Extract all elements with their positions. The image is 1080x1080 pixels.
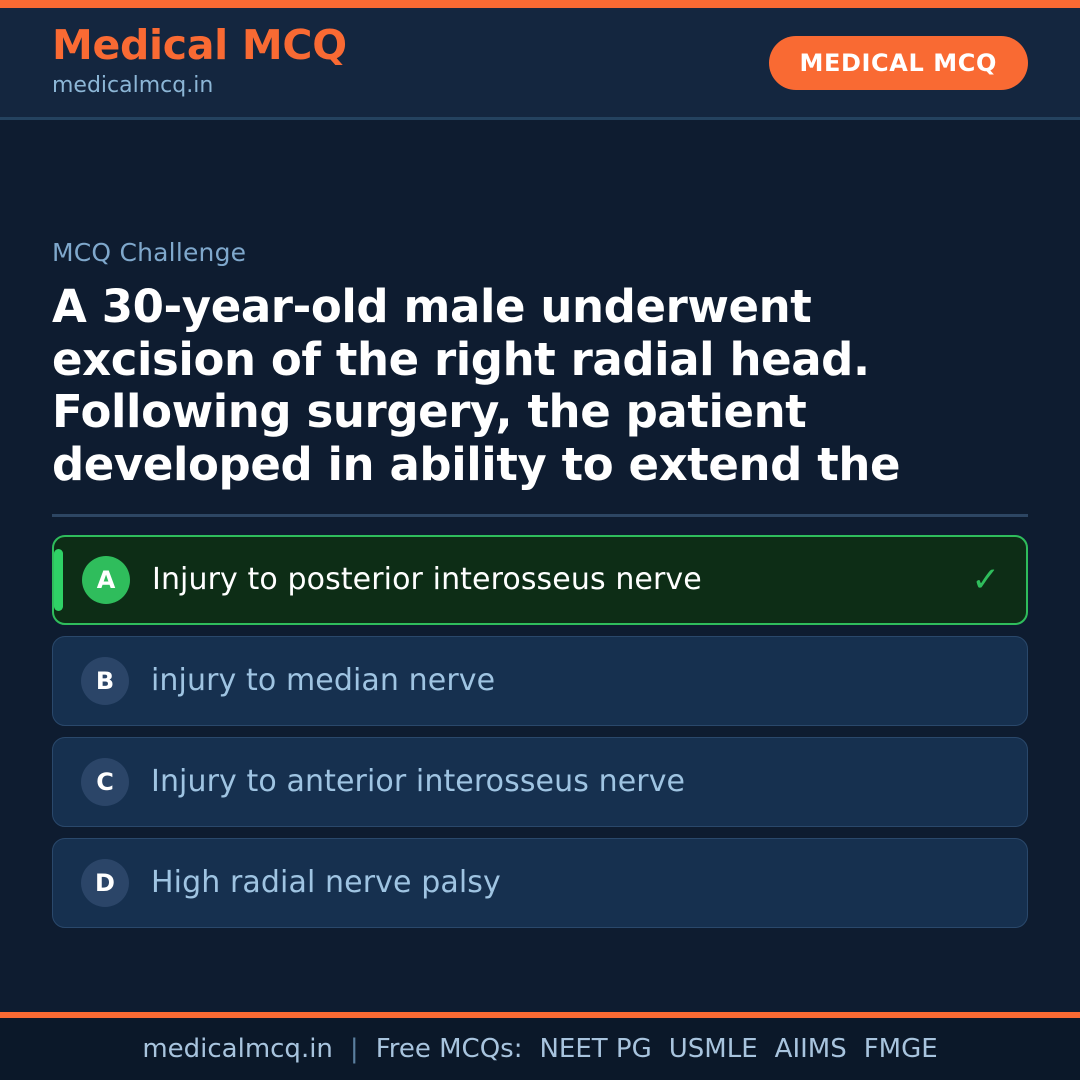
question-text: A 30-year-old male underwent excision of…	[52, 281, 1028, 492]
check-icon: ✓	[972, 563, 1001, 597]
option-row-d[interactable]: D High radial nerve palsy	[52, 838, 1028, 928]
option-letter-b: B	[81, 657, 129, 705]
header: Medical MCQ medicalmcq.in MEDICAL MCQ	[0, 8, 1080, 120]
option-letter-c: C	[81, 758, 129, 806]
option-row-c[interactable]: C Injury to anterior interosseus nerve	[52, 737, 1028, 827]
brand-subtitle: medicalmcq.in	[52, 70, 347, 102]
footer: medicalmcq.in | Free MCQs: NEET PG USMLE…	[0, 1018, 1080, 1080]
footer-site: medicalmcq.in	[142, 1034, 333, 1064]
eyebrow-label: MCQ Challenge	[52, 238, 1028, 267]
footer-exam-list: NEET PG USMLE AIIMS FMGE	[539, 1034, 937, 1064]
brand-title: Medical MCQ	[52, 24, 347, 67]
correct-accent-bar	[54, 549, 63, 611]
footer-exam-fmge: FMGE	[864, 1034, 938, 1064]
brand: Medical MCQ medicalmcq.in	[52, 24, 347, 102]
options-list: A Injury to posterior interosseus nerve …	[52, 535, 1028, 928]
footer-separator: |	[350, 1034, 359, 1064]
footer-exam-neetpg: NEET PG	[539, 1034, 651, 1064]
top-accent-bar	[0, 0, 1080, 8]
option-letter-a: A	[82, 556, 130, 604]
option-row-b[interactable]: B injury to median nerve	[52, 636, 1028, 726]
footer-exam-aiims: AIIMS	[775, 1034, 847, 1064]
mcq-card: Medical MCQ medicalmcq.in MEDICAL MCQ MC…	[0, 0, 1080, 1080]
option-text-c: Injury to anterior interosseus nerve	[151, 764, 1001, 800]
question-divider	[52, 514, 1028, 517]
option-letter-d: D	[81, 859, 129, 907]
footer-label: Free MCQs:	[376, 1034, 523, 1064]
footer-exam-usmle: USMLE	[669, 1034, 758, 1064]
header-badge: MEDICAL MCQ	[769, 36, 1028, 90]
option-text-b: injury to median nerve	[151, 663, 1001, 699]
option-row-a[interactable]: A Injury to posterior interosseus nerve …	[52, 535, 1028, 625]
main-content: MCQ Challenge A 30-year-old male underwe…	[0, 120, 1080, 1012]
footer-content: medicalmcq.in | Free MCQs: NEET PG USMLE…	[142, 1034, 937, 1064]
option-text-d: High radial nerve palsy	[151, 865, 1001, 901]
option-text-a: Injury to posterior interosseus nerve	[152, 562, 958, 598]
